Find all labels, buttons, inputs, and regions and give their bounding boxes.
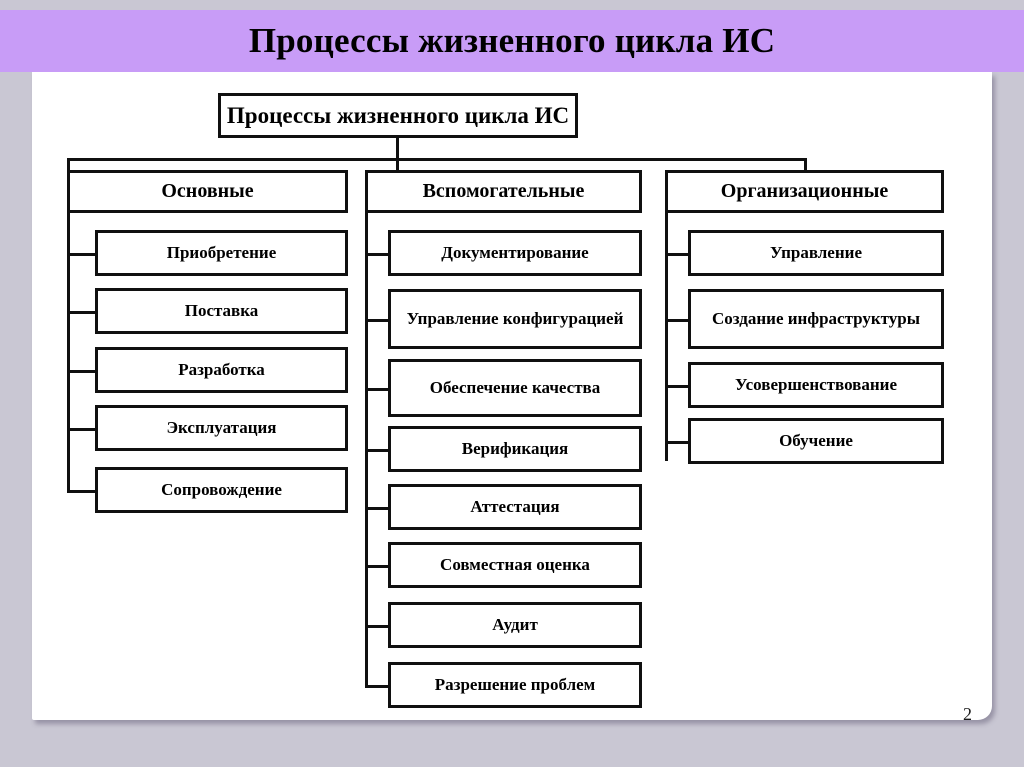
diagram-root-node[interactable]: Процессы жизненного цикла ИС	[218, 93, 578, 138]
leaf-node-attestaciya[interactable]: Аттестация	[388, 484, 642, 530]
connector-stub-osnovnye-4	[67, 428, 98, 431]
category-header-osnovnye[interactable]: Основные	[67, 170, 348, 213]
leaf-node-upravlenie[interactable]: Управление	[688, 230, 944, 276]
leaf-node-soprovozhdenie[interactable]: Сопровождение	[95, 467, 348, 513]
leaf-node-razreshenie-problem[interactable]: Разрешение проблем	[388, 662, 642, 708]
connector-root-stem	[396, 138, 399, 160]
connector-stub-osnovnye-2	[67, 311, 98, 314]
leaf-node-obespechenie-kachestva[interactable]: Обеспечение качества	[388, 359, 642, 417]
leaf-node-razrabotka[interactable]: Разработка	[95, 347, 348, 393]
category-header-vspomogatelnye[interactable]: Вспомогательные	[365, 170, 642, 213]
connector-stub-osnovnye-3	[67, 370, 98, 373]
leaf-node-postavka[interactable]: Поставка	[95, 288, 348, 334]
slide: Процессы жизненного цикла ИС Процессы жи…	[0, 0, 1024, 767]
category-header-organizacionnye[interactable]: Организационные	[665, 170, 944, 213]
leaf-node-sovmestnaya-ocenka[interactable]: Совместная оценка	[388, 542, 642, 588]
page-title: Процессы жизненного цикла ИС	[249, 21, 775, 61]
leaf-node-ekspluataciya[interactable]: Эксплуатация	[95, 405, 348, 451]
leaf-node-verifikaciya[interactable]: Верификация	[388, 426, 642, 472]
page-number: 2	[963, 704, 972, 725]
connector-stub-osnovnye-1	[67, 253, 98, 256]
leaf-node-dokumentirovanie[interactable]: Документирование	[388, 230, 642, 276]
slide-title-banner: Процессы жизненного цикла ИС	[0, 10, 1024, 72]
leaf-node-audit[interactable]: Аудит	[388, 602, 642, 648]
leaf-node-upravlenie-konfiguraciej[interactable]: Управление конфигурацией	[388, 289, 642, 349]
connector-stub-osnovnye-5	[67, 490, 98, 493]
leaf-node-usovershenstvovanie[interactable]: Усовершенствование	[688, 362, 944, 408]
connector-spine-organizacionnye	[665, 213, 668, 461]
leaf-node-obuchenie[interactable]: Обучение	[688, 418, 944, 464]
leaf-node-priobretenie[interactable]: Приобретение	[95, 230, 348, 276]
leaf-node-sozdanie-infrastruktury[interactable]: Создание инфраструктуры	[688, 289, 944, 349]
connector-distribution-bar	[67, 158, 807, 161]
